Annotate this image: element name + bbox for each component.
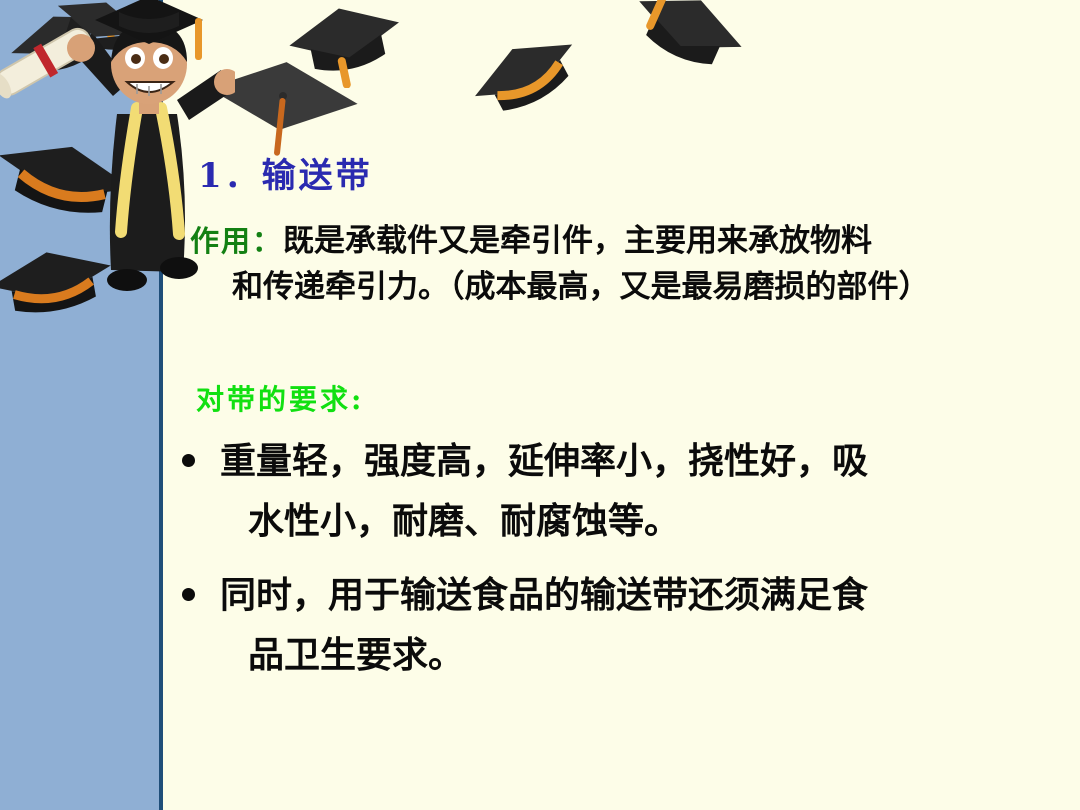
use-line-2: 和传递牵引力。（成本最高，又是最易磨损的部件） [190, 264, 1060, 310]
list-item: 重量轻，强度高，延伸率小，挠性好，吸 水性小，耐磨、耐腐蚀等。 [176, 432, 1066, 552]
bullet-1-line-1: 重量轻，强度高，延伸率小，挠性好，吸 [220, 432, 1066, 492]
list-item: 同时，用于输送食品的输送带还须满足食 品卫生要求。 [176, 566, 1066, 686]
use-line-1: 既是承载件又是牵引件，主要用来承放物料 [283, 223, 872, 259]
left-sidebar-panel [0, 0, 160, 810]
slide-canvas: 1．输送带 作用：既是承载件又是牵引件，主要用来承放物料 和传递牵引力。（成本最… [0, 0, 1080, 810]
requirements-bullet-list: 重量轻，强度高，延伸率小，挠性好，吸 水性小，耐磨、耐腐蚀等。 同时，用于输送食… [176, 432, 1066, 700]
bullet-dot-icon [182, 454, 195, 467]
use-paragraph: 作用：既是承载件又是牵引件，主要用来承放物料 和传递牵引力。（成本最高，又是最易… [190, 218, 1060, 310]
bullet-dot-icon [182, 588, 195, 601]
bullet-1-line-2: 水性小，耐磨、耐腐蚀等。 [220, 492, 1066, 552]
use-label: 作用： [190, 224, 283, 258]
requirements-heading: 对带的要求: [196, 378, 364, 418]
slide-title: 1．输送带 [198, 148, 373, 197]
bullet-2-line-1: 同时，用于输送食品的输送带还须满足食 [220, 566, 1066, 626]
bullet-2-line-2: 品卫生要求。 [220, 626, 1066, 686]
